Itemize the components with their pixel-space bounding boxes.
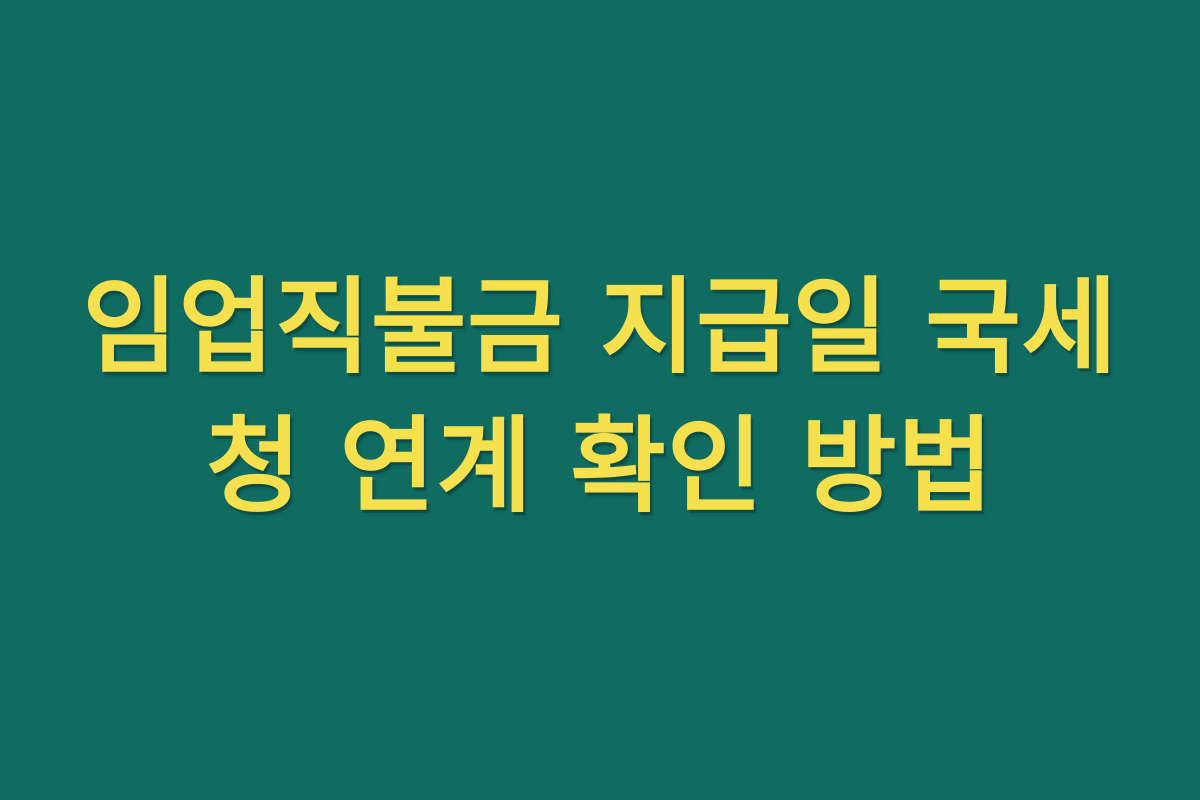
headline-block: 임업직불금 지급일 국세 청 연계 확인 방법	[80, 258, 1120, 537]
banner-card: 임업직불금 지급일 국세 청 연계 확인 방법	[0, 0, 1200, 800]
headline-line-2: 청 연계 확인 방법	[80, 397, 1120, 536]
headline-line-1: 임업직불금 지급일 국세	[80, 258, 1120, 397]
